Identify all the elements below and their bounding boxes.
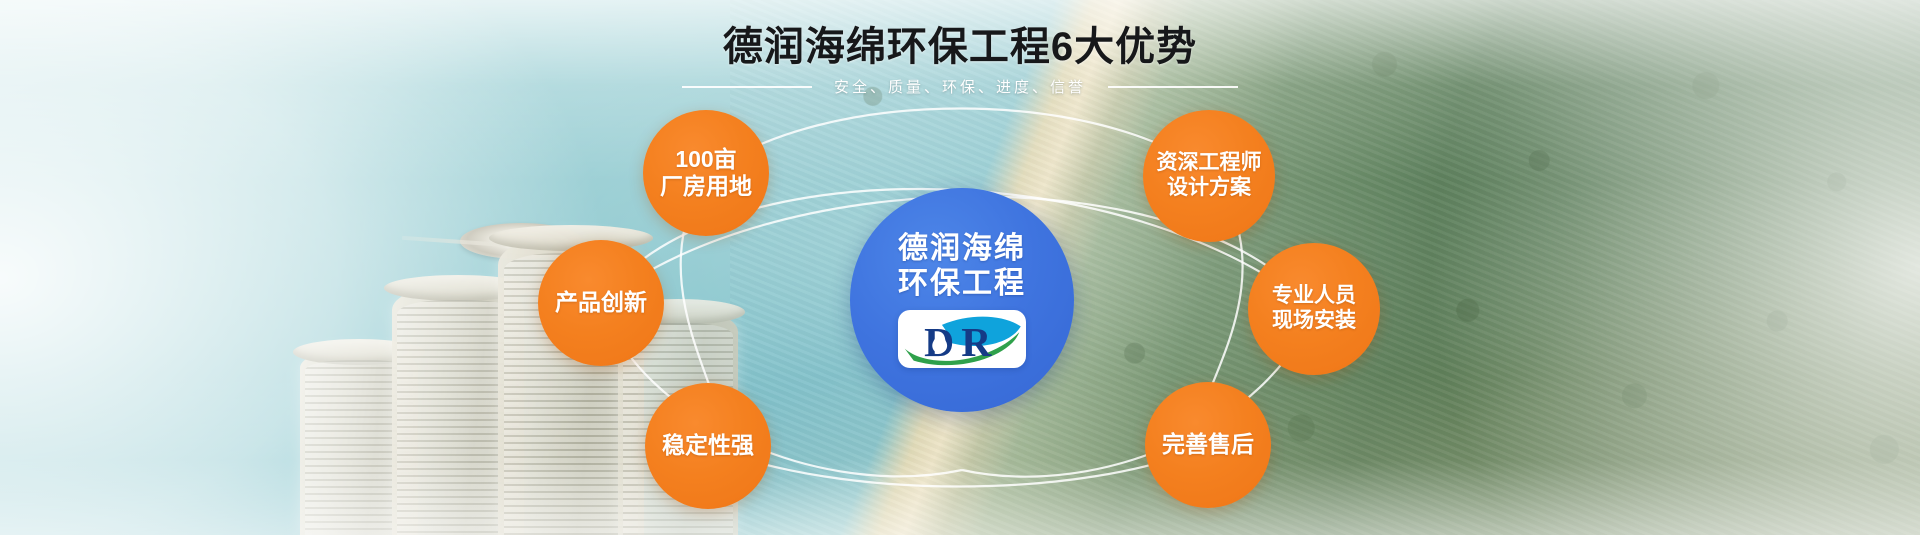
center-brand-badge: 德润海绵 环保工程 D R (850, 188, 1074, 412)
hub-line-1: 德润海绵 (898, 232, 1026, 267)
hub-line-2: 环保工程 (898, 267, 1026, 302)
bubble-product-innovation[interactable]: 产品创新 (538, 240, 664, 366)
bubble-onsite-installation[interactable]: 专业人员 现场安装 (1248, 243, 1380, 375)
banner-title: 德润海绵环保工程6大优势 (0, 14, 1920, 72)
bubble-100mu-factory-land[interactable]: 100亩 厂房用地 (643, 110, 769, 236)
bubble-high-stability[interactable]: 稳定性强 (645, 383, 771, 509)
svg-text:R: R (961, 320, 992, 366)
bubble-line: 厂房用地 (660, 173, 752, 200)
bubble-line: 完善售后 (1162, 431, 1254, 458)
bubble-after-sales[interactable]: 完善售后 (1145, 382, 1271, 508)
bubble-line: 设计方案 (1157, 176, 1262, 201)
bubble-senior-engineer[interactable]: 资深工程师 设计方案 (1143, 110, 1275, 242)
dr-logo-mark: D R (898, 310, 1026, 368)
promo-banner: 德润海绵环保工程6大优势 安全、质量、环保、进度、信誉 德润海绵 环保工程 D … (0, 0, 1920, 535)
subtitle-rule-right (1108, 86, 1238, 88)
bubble-line: 专业人员 (1272, 284, 1356, 309)
bubble-line: 现场安装 (1272, 309, 1356, 334)
banner-subtitle-row: 安全、质量、环保、进度、信誉 (0, 76, 1920, 97)
bubble-line: 资深工程师 (1157, 151, 1262, 176)
dr-logo: D R (898, 310, 1026, 368)
subtitle-rule-left (682, 86, 812, 88)
banner-subtitle: 安全、质量、环保、进度、信誉 (834, 76, 1086, 97)
bubble-line: 稳定性强 (662, 432, 754, 459)
bubble-line: 100亩 (660, 146, 752, 173)
bubble-line: 产品创新 (555, 289, 647, 316)
